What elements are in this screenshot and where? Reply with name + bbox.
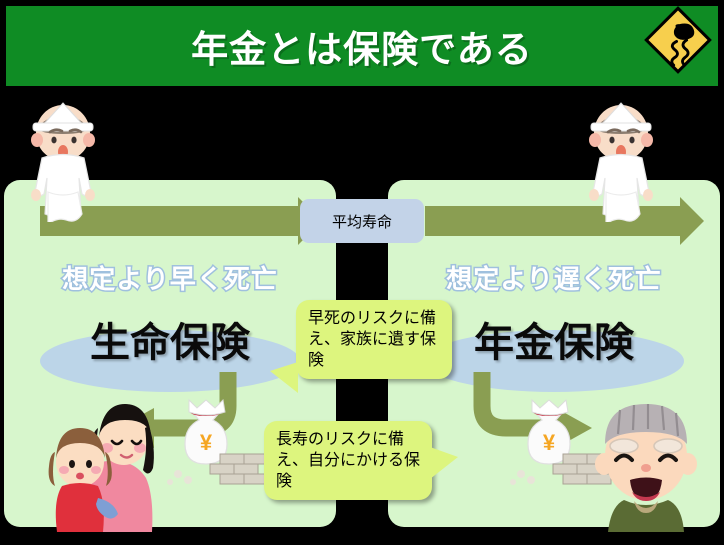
yen-symbol-right: ¥	[543, 430, 556, 455]
callout-life-insurance: 早死のリスクに備え、家族に遺す保険	[296, 300, 452, 379]
ghost-person-icon-left	[22, 100, 104, 222]
caption-late-death: 想定より遅く死亡	[388, 259, 720, 296]
money-bag-yen-icon-left: ¥	[162, 398, 274, 488]
ghost-person-icon-right	[580, 100, 662, 222]
slide-canvas: 年金とは保険である 平均寿命	[0, 0, 724, 545]
average-life-expectancy-label: 平均寿命	[332, 211, 392, 232]
average-life-expectancy-box: 平均寿命	[300, 199, 424, 243]
mother-and-child-icon	[48, 400, 172, 532]
caption-early-death: 想定より早く死亡	[4, 259, 336, 296]
title-bar: 年金とは保険である	[6, 6, 718, 86]
yen-symbol-left: ¥	[200, 430, 213, 455]
callout-annuity-insurance: 長寿のリスクに備え、自分にかける保険	[264, 421, 432, 500]
callout-life-insurance-text: 早死のリスクに備え、家族に遺す保険	[308, 310, 436, 369]
page-title: 年金とは保険である	[191, 19, 533, 73]
label-life-insurance: 生命保険	[4, 310, 336, 368]
callout-annuity-insurance-text: 長寿のリスクに備え、自分にかける保険	[276, 431, 420, 490]
callout-tail-right	[430, 447, 458, 479]
callout-tail-left	[270, 362, 298, 393]
slippery-road-warning-sign-icon	[642, 4, 714, 76]
elderly-man-icon	[590, 398, 702, 532]
